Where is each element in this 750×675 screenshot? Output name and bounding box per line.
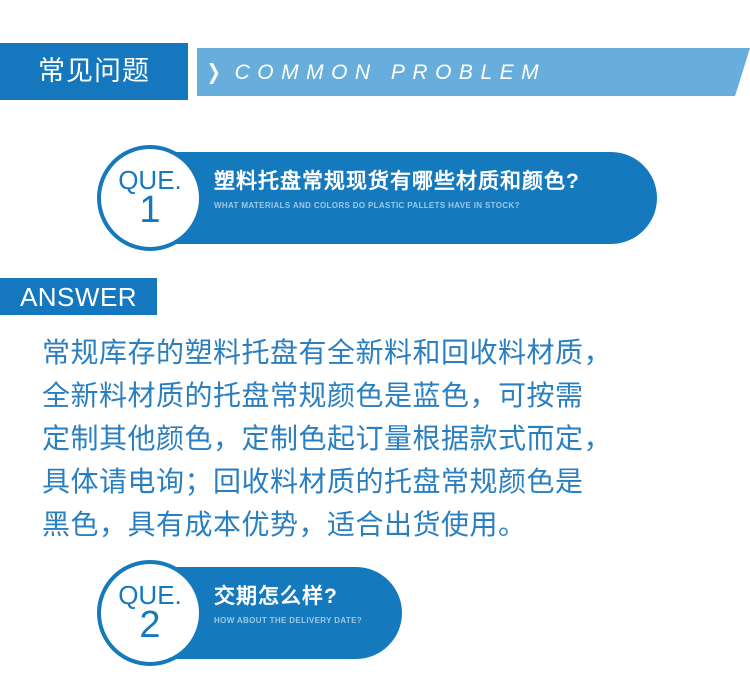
question-2-texts: 交期怎么样? HOW ABOUT THE DELIVERY DATE?	[214, 585, 362, 625]
answer-line: 定制其他颜色，定制色起订量根据款式而定，	[42, 417, 712, 460]
question-badge-number: 2	[139, 609, 160, 641]
question-1-title-cn: 塑料托盘常规现货有哪些材质和颜色?	[214, 170, 580, 194]
answer-line: 常规库存的塑料托盘有全新料和回收料材质，	[42, 331, 712, 374]
question-badge-2: QUE. 2	[97, 560, 203, 666]
section-header-tag-label: 常见问题	[38, 58, 150, 85]
section-header-banner-label: COMMON PROBLEM	[235, 62, 547, 83]
question-badge-1: QUE. 1	[97, 145, 203, 251]
answer-tag-label: ANSWER	[20, 284, 137, 310]
chevron-right-icon: ❯	[207, 62, 221, 83]
answer-body: 常规库存的塑料托盘有全新料和回收料材质， 全新料材质的托盘常规颜色是蓝色，可按需…	[42, 331, 712, 546]
answer-tag: ANSWER	[0, 278, 157, 315]
answer-line: 全新料材质的托盘常规颜色是蓝色，可按需	[42, 374, 712, 417]
answer-line: 黑色，具有成本优势，适合出货使用。	[42, 503, 712, 546]
section-header: 常见问题 ❯ COMMON PROBLEM	[0, 43, 750, 100]
question-badge-number: 1	[139, 194, 160, 226]
question-1-texts: 塑料托盘常规现货有哪些材质和颜色? WHAT MATERIALS AND COL…	[214, 170, 580, 210]
answer-line: 具体请电询；回收料材质的托盘常规颜色是	[42, 460, 712, 503]
question-bubble-2[interactable]: QUE. 2 交期怎么样? HOW ABOUT THE DELIVERY DAT…	[103, 567, 402, 659]
section-header-banner: ❯ COMMON PROBLEM	[197, 48, 750, 96]
question-2-title-cn: 交期怎么样?	[214, 585, 362, 609]
question-bubble-1[interactable]: QUE. 1 塑料托盘常规现货有哪些材质和颜色? WHAT MATERIALS …	[103, 152, 657, 244]
question-2-title-en: HOW ABOUT THE DELIVERY DATE?	[214, 617, 362, 625]
section-header-tag: 常见问题	[0, 43, 188, 100]
question-1-title-en: WHAT MATERIALS AND COLORS DO PLASTIC PAL…	[214, 202, 580, 210]
